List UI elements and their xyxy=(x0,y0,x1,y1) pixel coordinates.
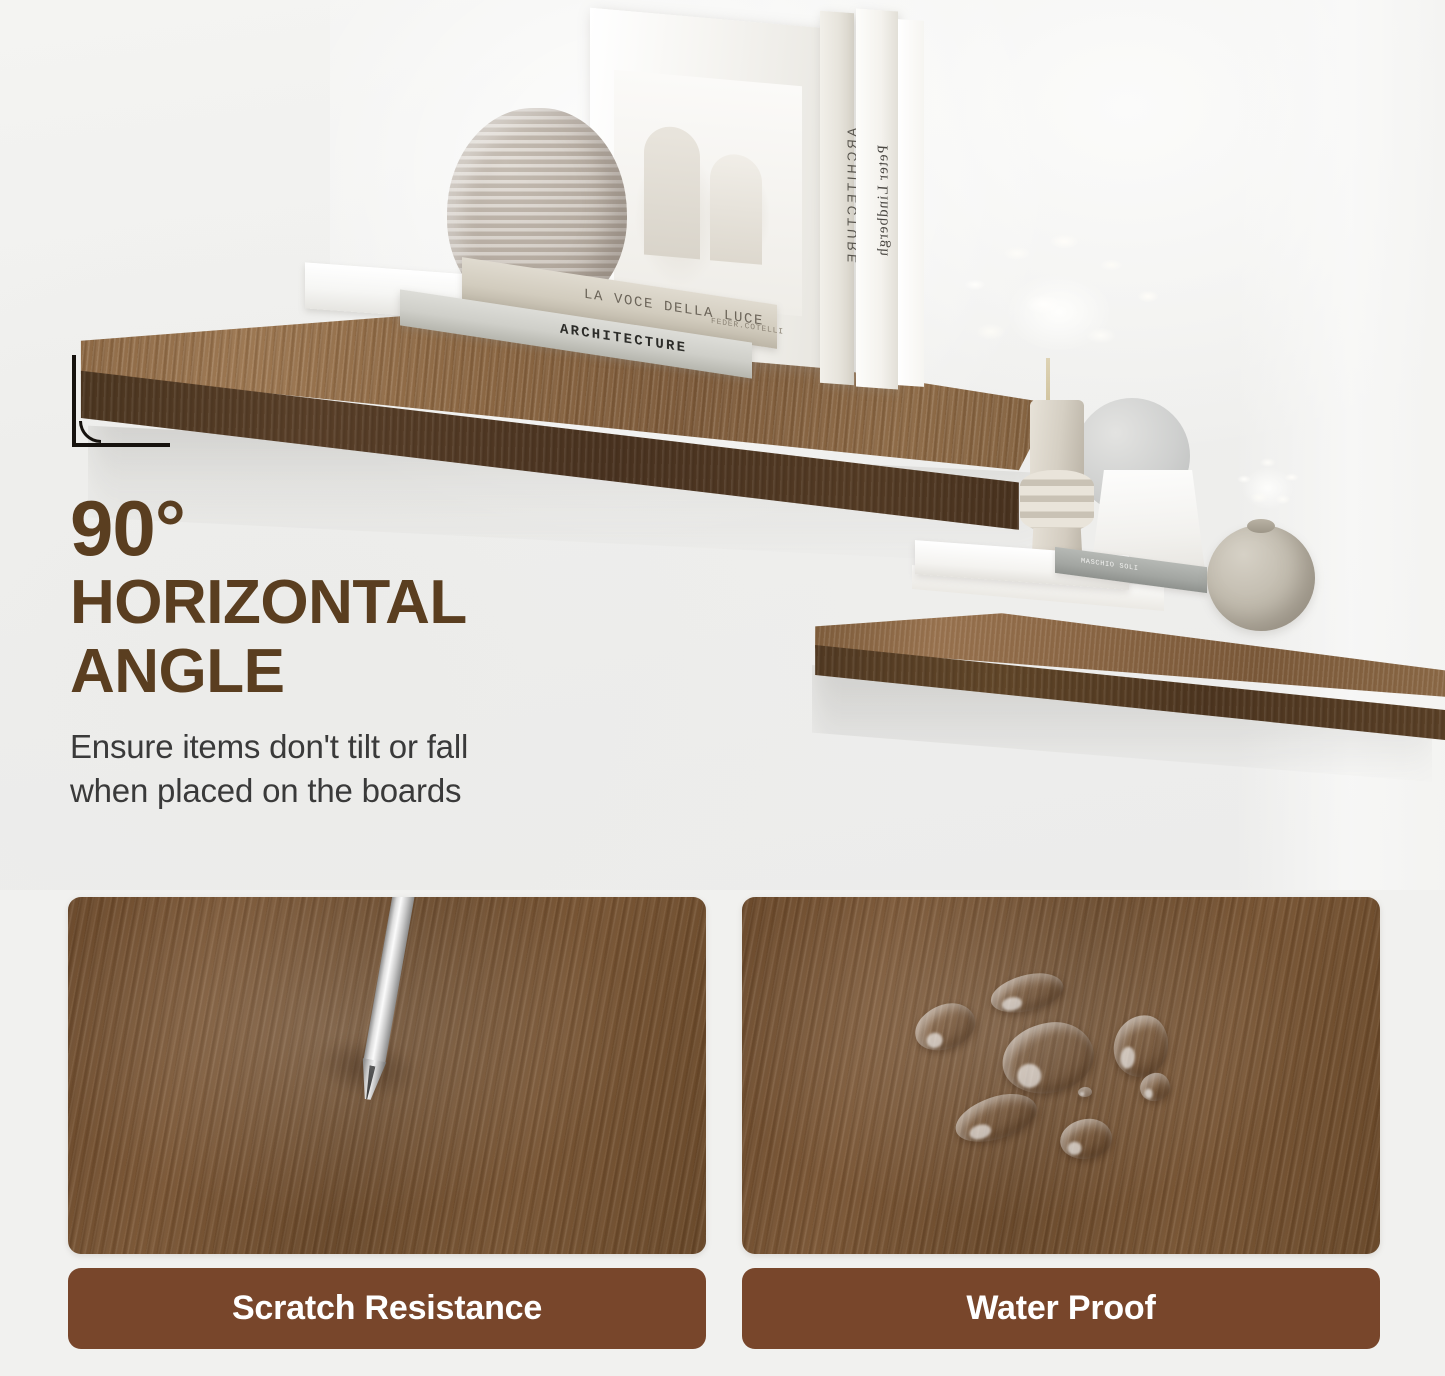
angle-horizontal-line xyxy=(72,443,170,447)
water-droplet-icon xyxy=(987,968,1067,1019)
subtitle-line-1: Ensure items don't tilt or fall xyxy=(70,725,770,769)
angle-vertical-line xyxy=(72,355,76,447)
vase-rings xyxy=(1020,470,1094,532)
lindbergh-book-spine: Peter Lindbergh xyxy=(856,8,898,389)
right-angle-indicator-icon xyxy=(72,355,182,455)
architecture-book-spine: ARCHITECTURE xyxy=(820,11,854,386)
angle-arc xyxy=(79,421,101,443)
subtitle-line-2: when placed on the boards xyxy=(70,769,770,813)
screwdriver-on-wood-photo xyxy=(68,897,706,1254)
bottom-trim xyxy=(0,1354,1445,1376)
water-droplets-on-wood-photo xyxy=(742,897,1380,1254)
feature-panels: Scratch Resistance Water Proof xyxy=(68,897,1381,1349)
water-droplet-icon xyxy=(950,1086,1042,1150)
water-proof-label: Water Proof xyxy=(742,1268,1380,1349)
headline-line-1: HORIZONTAL xyxy=(70,571,770,634)
water-droplet-icon xyxy=(1078,1087,1092,1097)
feature-scratch-resistance: Scratch Resistance xyxy=(68,897,706,1349)
book-cover-artwork xyxy=(614,70,802,316)
headline-line-2: ANGLE xyxy=(70,640,770,703)
grey-book-lower-label: MASCHIO SOLI xyxy=(1081,557,1139,573)
scratch-resistance-label: Scratch Resistance xyxy=(68,1268,706,1349)
lindbergh-spine-label: Peter Lindbergh xyxy=(876,50,893,351)
water-droplets-group xyxy=(742,897,1380,1254)
vase-neck xyxy=(1030,400,1084,478)
dried-white-florals-large xyxy=(928,218,1190,414)
sphere-stone-vase xyxy=(1207,525,1315,631)
headline-block: 90° HORIZONTAL ANGLE Ensure items don't … xyxy=(70,493,770,812)
feature-water-proof: Water Proof xyxy=(742,897,1380,1349)
water-droplet-icon xyxy=(1111,1012,1171,1079)
water-droplet-icon xyxy=(909,996,982,1057)
water-droplet-icon xyxy=(1059,1117,1114,1161)
extra-white-book xyxy=(898,19,924,387)
bottom-floating-shelf xyxy=(812,600,1445,760)
angle-value-heading: 90° xyxy=(70,493,770,565)
